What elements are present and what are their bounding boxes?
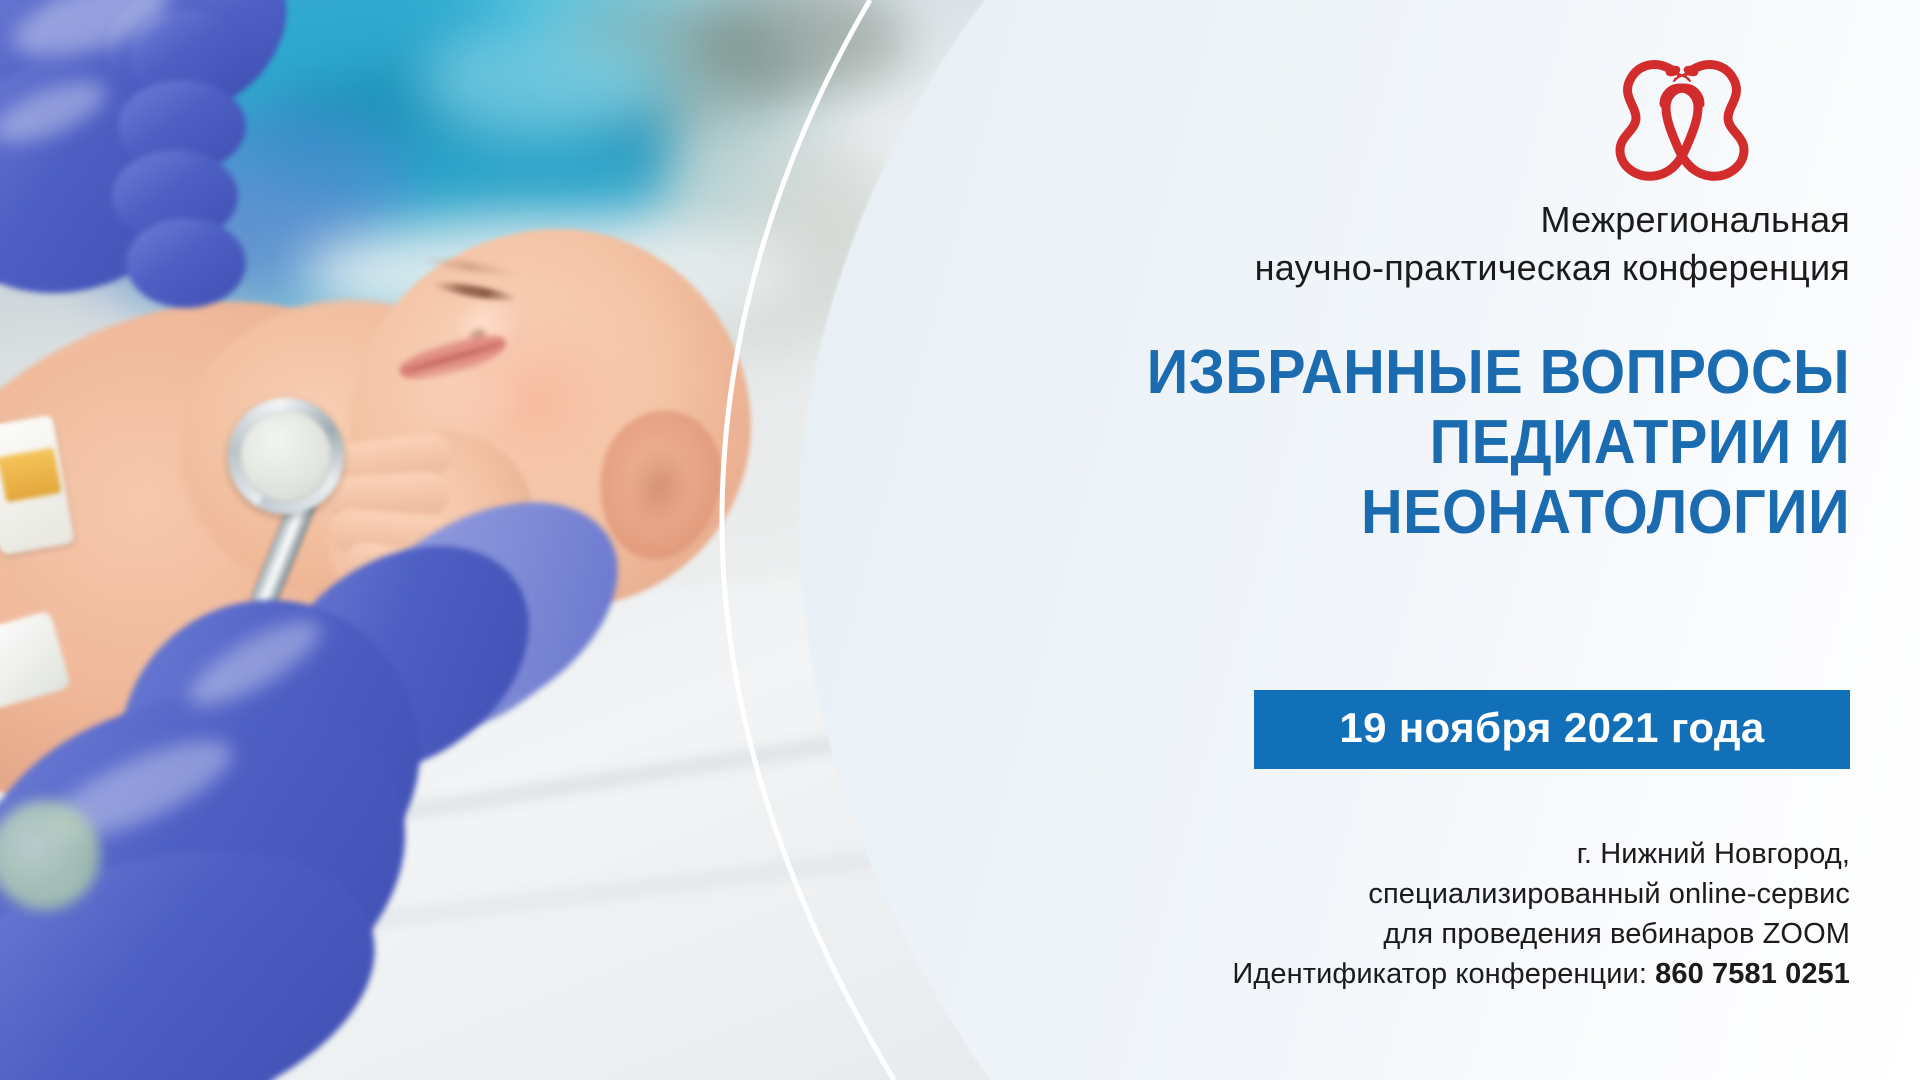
subtitle-line-2: научно-практическая конференция [850, 244, 1850, 292]
venue-details: г. Нижний Новгород, специализированный o… [850, 834, 1850, 994]
title-line-2: ПЕДИАТРИИ И [920, 408, 1850, 478]
sensor-tape-strip [0, 447, 62, 502]
two-snakes-heart-medical-emblem-icon [1602, 44, 1762, 184]
stethoscope-diaphragm [240, 410, 332, 502]
poster-content: Межрегиональная научно-практическая конф… [850, 0, 1850, 1080]
status-badge[interactable]: 19 ноября 2021 года [1254, 690, 1850, 769]
gloved-finger-4 [126, 218, 246, 308]
subtitle-line-1: Межрегиональная [850, 196, 1850, 244]
conference-id-row: Идентификатор конференции: 860 7581 0251 [850, 954, 1850, 994]
conference-poster: Межрегиональная научно-практическая конф… [0, 0, 1920, 1080]
page-title: ИЗБРАННЫЕ ВОПРОСЫ ПЕДИАТРИИ И НЕОНАТОЛОГ… [920, 338, 1850, 548]
conference-id-value: 860 7581 0251 [1655, 958, 1850, 990]
venue-city: г. Нижний Новгород, [850, 834, 1850, 874]
venue-platform: для проведения вебинаров ZOOM [850, 914, 1850, 954]
logo-svg [1602, 44, 1762, 184]
conference-id-label: Идентификатор конференции: [1232, 958, 1655, 990]
baby-chin [390, 372, 530, 442]
conference-subtitle: Межрегиональная научно-практическая конф… [850, 196, 1850, 292]
blue-cloth-5 [420, 20, 660, 140]
title-line-3: НЕОНАТОЛОГИИ [920, 478, 1850, 548]
venue-service: специализированный online-сервис [850, 874, 1850, 914]
title-line-1: ИЗБРАННЫЕ ВОПРОСЫ [920, 338, 1850, 408]
